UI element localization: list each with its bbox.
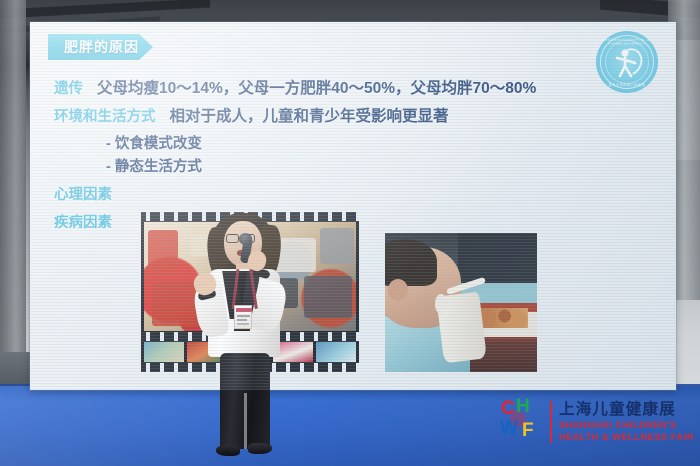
presenter-figure (196, 207, 292, 466)
presenter-shoe-right (248, 443, 272, 454)
childrens-hospital-logo-icon: CHILDREN'S HOSPITAL OF FUDAN UNIVERSITY … (596, 31, 658, 93)
badge-text-line (237, 319, 247, 321)
photo-child-ear (388, 279, 408, 301)
logo-ring-text-bottom: 复旦大学附属儿科医院 (596, 82, 658, 87)
photo-child-hair (385, 239, 437, 286)
slide-line-environment: 环境和生活方式 相对于成人，儿童和青少年受影响更显著 (54, 104, 654, 126)
logo-letter-w: W (500, 419, 518, 438)
collage-element (320, 228, 354, 264)
chwf-logo-icon: C H W F (500, 397, 548, 447)
slide-body-text: 遗传 父母均瘦10～14%，父母一方肥胖40～50%，父母均胖70～80% 环境… (54, 76, 654, 232)
presenter-glasses-left-lens (226, 234, 239, 243)
slide-keyword: 遗传 (54, 77, 83, 98)
watermark-title-cn: 上海儿童健康展 (559, 401, 694, 419)
slide-keyword-psychological: 心理因素 (54, 183, 654, 204)
photo-food (476, 308, 528, 327)
badge-text-line (237, 323, 249, 325)
badge-text-line (237, 315, 250, 317)
slide-keyword: 环境和生活方式 (54, 105, 156, 126)
logo-letter-c: C (501, 399, 515, 418)
collage-thumbnail (316, 342, 356, 362)
microphone-head-icon (239, 233, 252, 245)
presenter-shoe-left (216, 445, 240, 456)
presenter-trouser-gap (244, 393, 247, 449)
ceiling-beam (0, 0, 210, 19)
logo-child-figure-icon (612, 45, 642, 79)
collage-thumbnail (144, 342, 184, 362)
slide-banner-title: 肥胖的原因 (64, 37, 139, 57)
collage-element (304, 276, 352, 318)
slide-line-genetics: 遗传 父母均瘦10～14%，父母一方肥胖40～50%，父母均胖70～80% (54, 76, 654, 98)
slide-keyword-disease: 疾病因素 (54, 211, 654, 232)
logo-letter-h: H (516, 397, 530, 416)
slide-image-child-eating (385, 233, 537, 372)
watermark-divider (550, 401, 552, 443)
hall-pillar-left (0, 0, 26, 352)
logo-letter-f: F (522, 421, 534, 440)
led-presentation-screen: 肥胖的原因 遗传 父母均瘦10～14%，父母一方肥胖40～50%，父母均胖70～… (30, 22, 676, 390)
slide-value: 相对于成人，儿童和青少年受影响更显著 (170, 104, 449, 126)
slide-bullet-sedentary: - 静态生活方式 (106, 155, 654, 176)
photo-background-region (458, 233, 537, 286)
presenter-badge (234, 305, 252, 329)
slide-value: 父母均瘦10～14%，父母一方肥胖40～50%，父母均胖70～80% (97, 76, 536, 98)
collage-element (148, 230, 178, 276)
event-watermark: C H W F 上海儿童健康展 SHANGHAI CHILDREN'S HEAL… (500, 392, 696, 452)
watermark-text-block: 上海儿童健康展 SHANGHAI CHILDREN'S HEALTH & WEL… (559, 401, 694, 444)
screenshot-root: 肥胖的原因 遗传 父母均瘦10～14%，父母一方肥胖40～50%，父母均胖70～… (0, 0, 700, 466)
photo-straw-tip (435, 294, 447, 313)
slide-canvas: 肥胖的原因 遗传 父母均瘦10～14%，父母一方肥胖40～50%，父母均胖70～… (30, 22, 676, 390)
badge-header-bar (236, 308, 252, 312)
watermark-title-en-line1: SHANGHAI CHILDREN'S (559, 420, 694, 432)
slide-section-banner: 肥胖的原因 (48, 34, 153, 60)
slide-bullet-diet: - 饮食模式改变 (106, 132, 654, 153)
watermark-title-en-line2: HEALTH & WELLNESS FAIR (559, 432, 694, 444)
